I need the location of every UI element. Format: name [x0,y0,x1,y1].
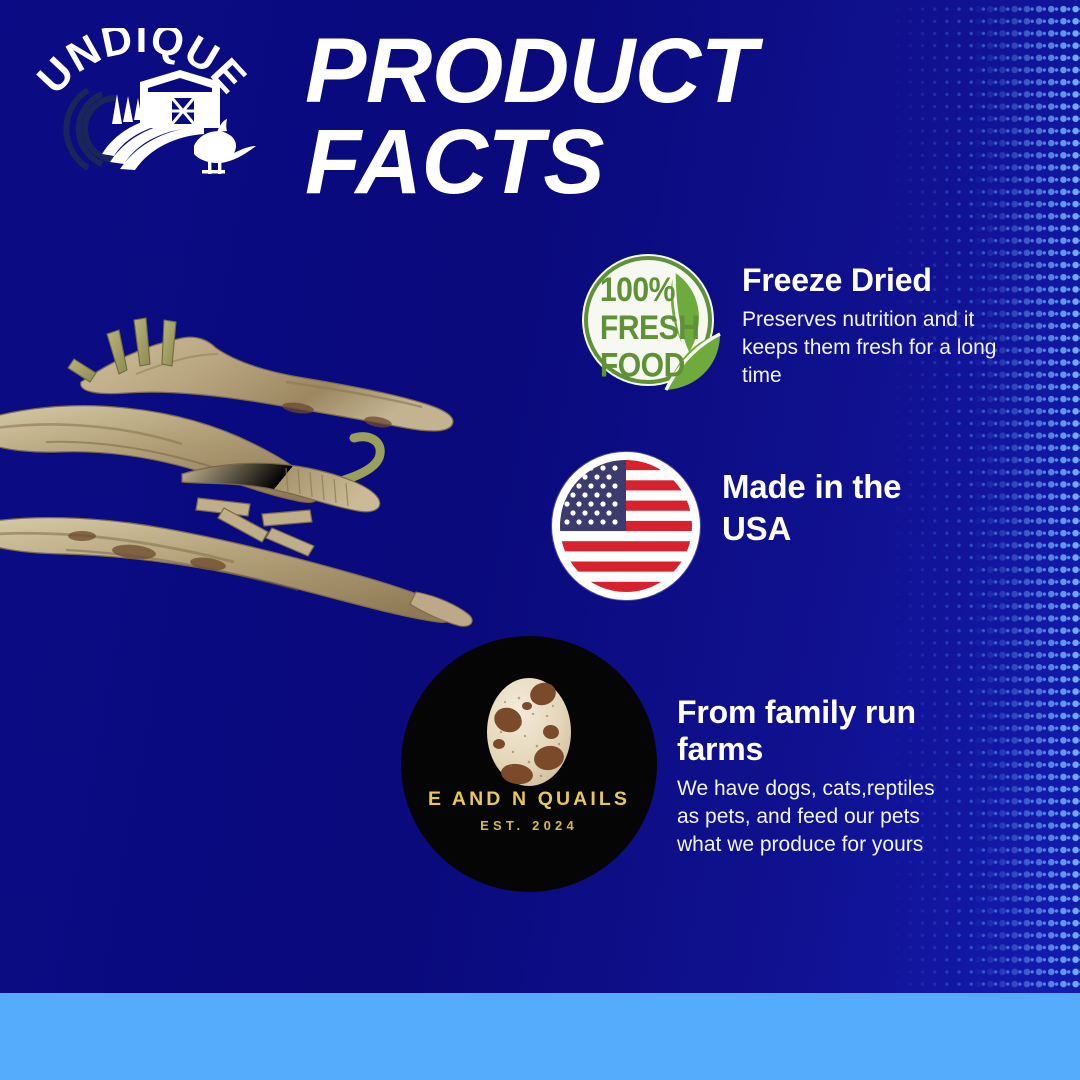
quail-badge-wordmark: E AND N QUAILS [401,788,657,811]
feature-freeze-dried-body: Preserves nutrition and it keeps them fr… [742,306,1000,390]
feature-freeze-dried: 100% FRESH FOOD Freeze Dried Preserves n… [578,248,1000,394]
feature-family-run-farms-body: We have dogs, cats,reptiles as pets, and… [677,775,949,859]
fresh-food-line-3: FOOD [600,346,685,384]
feature-freeze-dried-title: Freeze Dried [742,262,1000,299]
bottom-accent-bar [0,993,1080,1080]
product-photo [0,262,496,674]
usa-flag-badge [552,452,700,600]
quail-badge-circle: E AND N QUAILS EST. 2024 [401,636,657,892]
flag-clip [560,460,692,592]
usa-flag-icon [560,460,692,592]
fresh-food-line-1: 100% [600,270,675,308]
fresh-food-line-2: FRESH [600,308,700,346]
halftone-dot-pattern-large [970,0,1080,993]
freeze-dried-quail-feet-image [0,262,496,674]
flag-badge-ring [552,452,700,600]
brand-logo: UNDIQUE [22,28,262,178]
feature-made-in-usa-text: Made in the USA [722,452,970,550]
feature-made-in-usa-title: Made in the USA [722,466,970,550]
feature-family-run-farms-text: From family run farms We have dogs, cats… [677,636,949,859]
feature-family-run-farms: E AND N QUAILS EST. 2024 From family run… [401,636,949,892]
quail-egg-icon [401,636,657,892]
e-and-n-quails-badge: E AND N QUAILS EST. 2024 [401,636,657,892]
page-title: PRODUCT FACTS [305,26,925,208]
feature-family-run-farms-title: From family run farms [677,694,949,768]
feature-freeze-dried-text: Freeze Dried Preserves nutrition and it … [742,248,1000,390]
farm-barn-quail-logo-icon: UNDIQUE [22,28,262,178]
fresh-food-seal-icon: 100% FRESH FOOD [578,248,724,394]
quail-badge-established: EST. 2024 [401,818,657,833]
feature-made-in-usa: Made in the USA [552,452,970,600]
product-facts-poster: UNDIQUE PRODUCT FACTS [0,0,1080,1080]
fresh-food-seal-badge: 100% FRESH FOOD [578,248,724,394]
